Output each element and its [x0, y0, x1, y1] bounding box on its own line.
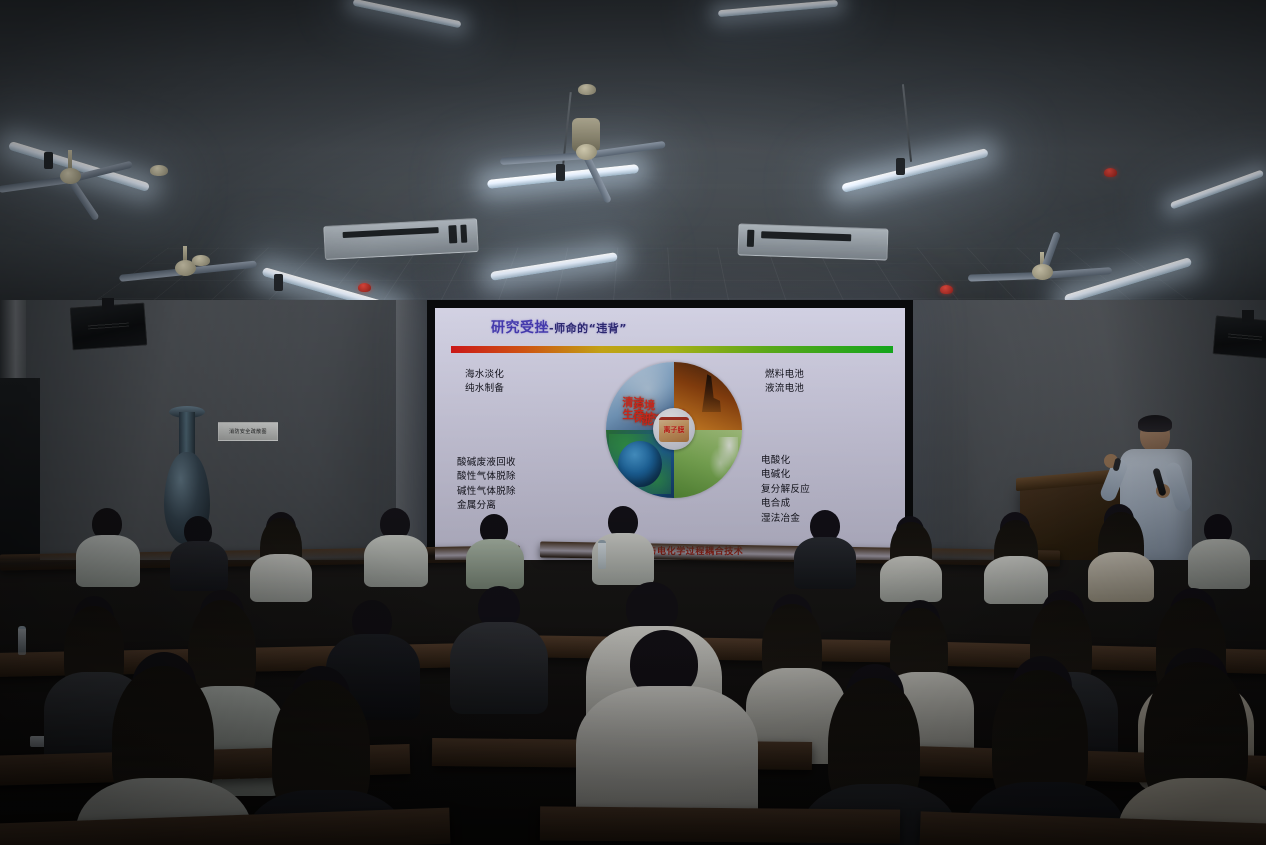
- tube-light-mount: [556, 164, 565, 181]
- oil-pumpjack-icon: [698, 374, 722, 412]
- center-badge-label: 离子膜: [664, 427, 685, 434]
- smoke-detector-icon: [192, 255, 210, 266]
- quadrant-label-clean-production: 清洁 生产: [622, 397, 644, 420]
- fan-hub: [1032, 264, 1053, 280]
- plant-sprig-icon: [709, 437, 738, 485]
- lecture-hall-photo: 消防安全疏散图 研究受挫-师命的“违背” 海水淡化 纯水制备 酸碱废液回收 酸性…: [0, 0, 1266, 845]
- tube-light-mount: [44, 152, 53, 169]
- right-wall-speaker: [1212, 315, 1266, 359]
- slide-title-sub: -师命的“违背”: [549, 322, 627, 335]
- ion-membrane-icon: 离子膜: [659, 417, 689, 442]
- vent-slot: [761, 231, 851, 241]
- smoke-detector-icon: [150, 165, 168, 176]
- slide-title-main: 研究受挫: [491, 320, 549, 336]
- slide-accent-bar: [451, 346, 893, 353]
- vent-slot: [343, 227, 439, 238]
- audience-area: [0, 560, 1266, 845]
- person-body: [984, 556, 1048, 604]
- ceiling: [0, 0, 1266, 312]
- person-body: [170, 541, 228, 591]
- earth-globe-icon: [618, 441, 662, 487]
- slide-text-bottom-left: 酸碱废液回收 酸性气体脱除 碱性气体脱除 金属分离: [457, 456, 516, 514]
- person-body: [1188, 539, 1250, 589]
- vent-slot: [460, 225, 467, 243]
- wall-evacuation-sign: 消防安全疏散图: [218, 422, 278, 441]
- speaker-grille: [1228, 333, 1262, 340]
- desk-row-foreground: [540, 806, 900, 843]
- fire-alarm-icon: [940, 285, 953, 294]
- air-conditioner-vent: [737, 223, 888, 260]
- speaker-bracket: [1242, 310, 1254, 322]
- fan-hub: [576, 144, 597, 160]
- slide-text-bottom-right: 电酸化 电碱化 复分解反应 电合成 湿法冶金: [761, 454, 810, 526]
- diagram-center-badge: 离子膜: [653, 408, 695, 450]
- slide-text-top-left: 海水淡化 纯水制备: [465, 368, 504, 397]
- water-bottle[interactable]: [18, 626, 26, 655]
- smoke-detector-icon: [578, 84, 596, 95]
- person-body: [364, 535, 428, 587]
- vent-slot: [448, 225, 457, 243]
- desk-row: [520, 635, 920, 663]
- vent-slot: [747, 230, 755, 247]
- fan-hub: [60, 168, 81, 184]
- person-body: [250, 554, 312, 602]
- person-body: [76, 535, 140, 587]
- tube-light-mount: [896, 158, 905, 175]
- speaker-bracket: [102, 298, 114, 310]
- person-body: [466, 539, 524, 589]
- slide-text-top-right: 燃料电池 液流电池: [765, 368, 804, 397]
- speaker-grille: [88, 322, 129, 330]
- person-body: [880, 556, 942, 602]
- water-bottle[interactable]: [598, 540, 606, 569]
- tube-light-mount: [274, 274, 283, 291]
- presenter-hair: [1138, 415, 1172, 432]
- fire-alarm-icon: [358, 283, 371, 292]
- person-body: [450, 622, 548, 714]
- fire-alarm-icon: [1104, 168, 1117, 177]
- person-body: [1088, 552, 1154, 602]
- slide-title: 研究受挫-师命的“违背”: [491, 317, 627, 337]
- person-body: [794, 537, 856, 589]
